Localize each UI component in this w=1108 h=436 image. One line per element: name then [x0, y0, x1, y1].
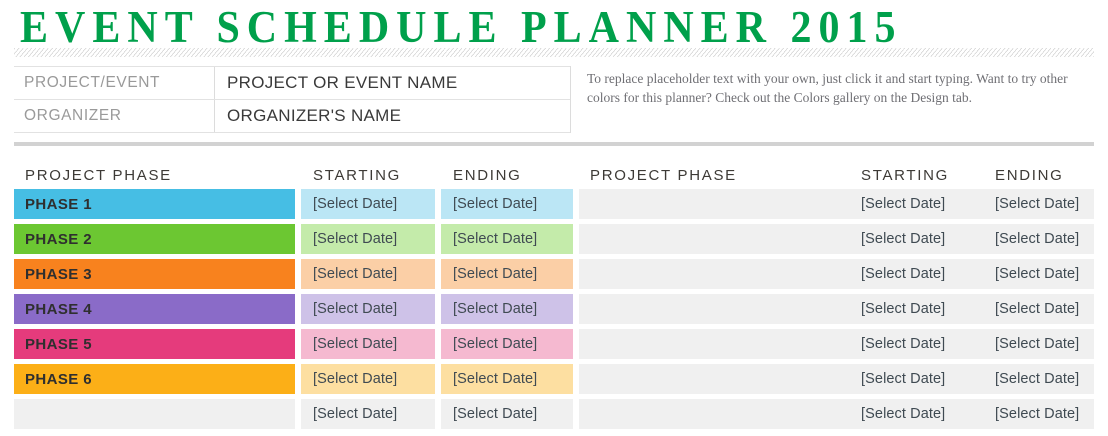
ending-date-cell-5[interactable]: [Select Date]	[441, 329, 573, 359]
ending-date-cell-right-1[interactable]: [Select Date]	[983, 189, 1094, 219]
schedule-grid: PROJECT PHASE STARTING ENDING PROJECT PH…	[14, 152, 1094, 432]
hatched-divider	[14, 48, 1094, 57]
header-starting-right: STARTING	[849, 167, 983, 185]
date-placeholder: [Select Date]	[995, 406, 1079, 422]
phase-name-cell-2[interactable]: PHASE 2	[14, 224, 295, 254]
ending-date-cell-right-3[interactable]: [Select Date]	[983, 259, 1094, 289]
date-placeholder: [Select Date]	[453, 406, 537, 422]
starting-date-cell-3[interactable]: [Select Date]	[301, 259, 435, 289]
ending-date-cell-right-7[interactable]: [Select Date]	[983, 399, 1094, 429]
phase-label: PHASE 3	[25, 266, 92, 283]
date-placeholder: [Select Date]	[453, 266, 537, 282]
phase-name-cell-right-3	[579, 259, 849, 289]
phase-name-cell-right-6	[579, 364, 849, 394]
phase-label: PHASE 4	[25, 301, 92, 318]
date-placeholder: [Select Date]	[313, 266, 397, 282]
date-placeholder: [Select Date]	[861, 196, 945, 212]
date-placeholder: [Select Date]	[995, 196, 1079, 212]
ending-date-cell-6[interactable]: [Select Date]	[441, 364, 573, 394]
date-placeholder: [Select Date]	[861, 371, 945, 387]
starting-date-cell-1[interactable]: [Select Date]	[301, 189, 435, 219]
phase-name-cell-5[interactable]: PHASE 5	[14, 329, 295, 359]
table-row: PHASE 2[Select Date][Select Date][Select…	[14, 222, 1094, 257]
date-placeholder: [Select Date]	[313, 196, 397, 212]
starting-date-cell-4[interactable]: [Select Date]	[301, 294, 435, 324]
ending-date-cell-right-4[interactable]: [Select Date]	[983, 294, 1094, 324]
date-placeholder: [Select Date]	[453, 336, 537, 352]
date-placeholder: [Select Date]	[453, 231, 537, 247]
date-placeholder: [Select Date]	[861, 406, 945, 422]
project-event-value[interactable]: PROJECT OR EVENT NAME	[215, 67, 571, 100]
ending-date-cell-7[interactable]: [Select Date]	[441, 399, 573, 429]
date-placeholder: [Select Date]	[995, 336, 1079, 352]
table-row: PHASE 3[Select Date][Select Date][Select…	[14, 257, 1094, 292]
table-row: PHASE 1[Select Date][Select Date][Select…	[14, 187, 1094, 222]
date-placeholder: [Select Date]	[995, 231, 1079, 247]
schedule-rows: PHASE 1[Select Date][Select Date][Select…	[14, 187, 1094, 432]
title-bar: EVENT SCHEDULE PLANNER 2015	[0, 0, 1108, 46]
phase-label: PHASE 1	[25, 196, 92, 213]
date-placeholder: [Select Date]	[995, 371, 1079, 387]
starting-date-cell-right-1[interactable]: [Select Date]	[849, 189, 983, 219]
starting-date-cell-right-3[interactable]: [Select Date]	[849, 259, 983, 289]
section-divider-rule	[14, 142, 1094, 146]
phase-name-cell-right-2	[579, 224, 849, 254]
ending-date-cell-right-5[interactable]: [Select Date]	[983, 329, 1094, 359]
starting-date-cell-6[interactable]: [Select Date]	[301, 364, 435, 394]
header-ending-right: ENDING	[983, 167, 1094, 185]
phase-name-cell-right-7	[579, 399, 849, 429]
header-project-phase-left: PROJECT PHASE	[14, 167, 295, 185]
ending-date-cell-2[interactable]: [Select Date]	[441, 224, 573, 254]
ending-date-cell-1[interactable]: [Select Date]	[441, 189, 573, 219]
project-event-label: PROJECT/EVENT	[14, 67, 215, 100]
table-row: [Select Date][Select Date][Select Date][…	[14, 397, 1094, 432]
phase-name-cell-4[interactable]: PHASE 4	[14, 294, 295, 324]
date-placeholder: [Select Date]	[313, 371, 397, 387]
schedule-header-row: PROJECT PHASE STARTING ENDING PROJECT PH…	[14, 152, 1094, 185]
organizer-label: ORGANIZER	[14, 100, 215, 133]
project-info-table: PROJECT/EVENT PROJECT OR EVENT NAME ORGA…	[14, 66, 570, 133]
phase-name-cell-right-1	[579, 189, 849, 219]
date-placeholder: [Select Date]	[313, 301, 397, 317]
project-info-section: PROJECT/EVENT PROJECT OR EVENT NAME ORGA…	[14, 66, 1094, 133]
date-placeholder: [Select Date]	[861, 301, 945, 317]
starting-date-cell-5[interactable]: [Select Date]	[301, 329, 435, 359]
date-placeholder: [Select Date]	[313, 406, 397, 422]
header-starting-left: STARTING	[301, 167, 435, 185]
ending-date-cell-right-2[interactable]: [Select Date]	[983, 224, 1094, 254]
table-row: ORGANIZER ORGANIZER'S NAME	[14, 100, 570, 133]
organizer-value[interactable]: ORGANIZER'S NAME	[215, 100, 571, 133]
starting-date-cell-right-6[interactable]: [Select Date]	[849, 364, 983, 394]
table-row: PHASE 4[Select Date][Select Date][Select…	[14, 292, 1094, 327]
table-row: PHASE 6[Select Date][Select Date][Select…	[14, 362, 1094, 397]
header-project-phase-right: PROJECT PHASE	[579, 167, 849, 185]
starting-date-cell-right-4[interactable]: [Select Date]	[849, 294, 983, 324]
date-placeholder: [Select Date]	[995, 266, 1079, 282]
phase-name-cell-7	[14, 399, 295, 429]
phase-label: PHASE 6	[25, 371, 92, 388]
phase-name-cell-3[interactable]: PHASE 3	[14, 259, 295, 289]
date-placeholder: [Select Date]	[313, 336, 397, 352]
phase-label: PHASE 2	[25, 231, 92, 248]
starting-date-cell-right-7[interactable]: [Select Date]	[849, 399, 983, 429]
page-title: EVENT SCHEDULE PLANNER 2015	[20, 4, 1108, 52]
phase-name-cell-6[interactable]: PHASE 6	[14, 364, 295, 394]
date-placeholder: [Select Date]	[453, 371, 537, 387]
date-placeholder: [Select Date]	[453, 301, 537, 317]
phase-label: PHASE 5	[25, 336, 92, 353]
date-placeholder: [Select Date]	[313, 231, 397, 247]
starting-date-cell-7[interactable]: [Select Date]	[301, 399, 435, 429]
starting-date-cell-2[interactable]: [Select Date]	[301, 224, 435, 254]
ending-date-cell-right-6[interactable]: [Select Date]	[983, 364, 1094, 394]
table-row: PROJECT/EVENT PROJECT OR EVENT NAME	[14, 67, 570, 100]
date-placeholder: [Select Date]	[861, 231, 945, 247]
date-placeholder: [Select Date]	[861, 266, 945, 282]
tip-text: To replace placeholder text with your ow…	[570, 66, 1094, 133]
starting-date-cell-right-2[interactable]: [Select Date]	[849, 224, 983, 254]
ending-date-cell-3[interactable]: [Select Date]	[441, 259, 573, 289]
header-ending-left: ENDING	[441, 167, 573, 185]
table-row: PHASE 5[Select Date][Select Date][Select…	[14, 327, 1094, 362]
phase-name-cell-right-5	[579, 329, 849, 359]
date-placeholder: [Select Date]	[995, 301, 1079, 317]
phase-name-cell-right-4	[579, 294, 849, 324]
starting-date-cell-right-5[interactable]: [Select Date]	[849, 329, 983, 359]
date-placeholder: [Select Date]	[861, 336, 945, 352]
phase-name-cell-1[interactable]: PHASE 1	[14, 189, 295, 219]
ending-date-cell-4[interactable]: [Select Date]	[441, 294, 573, 324]
date-placeholder: [Select Date]	[453, 196, 537, 212]
